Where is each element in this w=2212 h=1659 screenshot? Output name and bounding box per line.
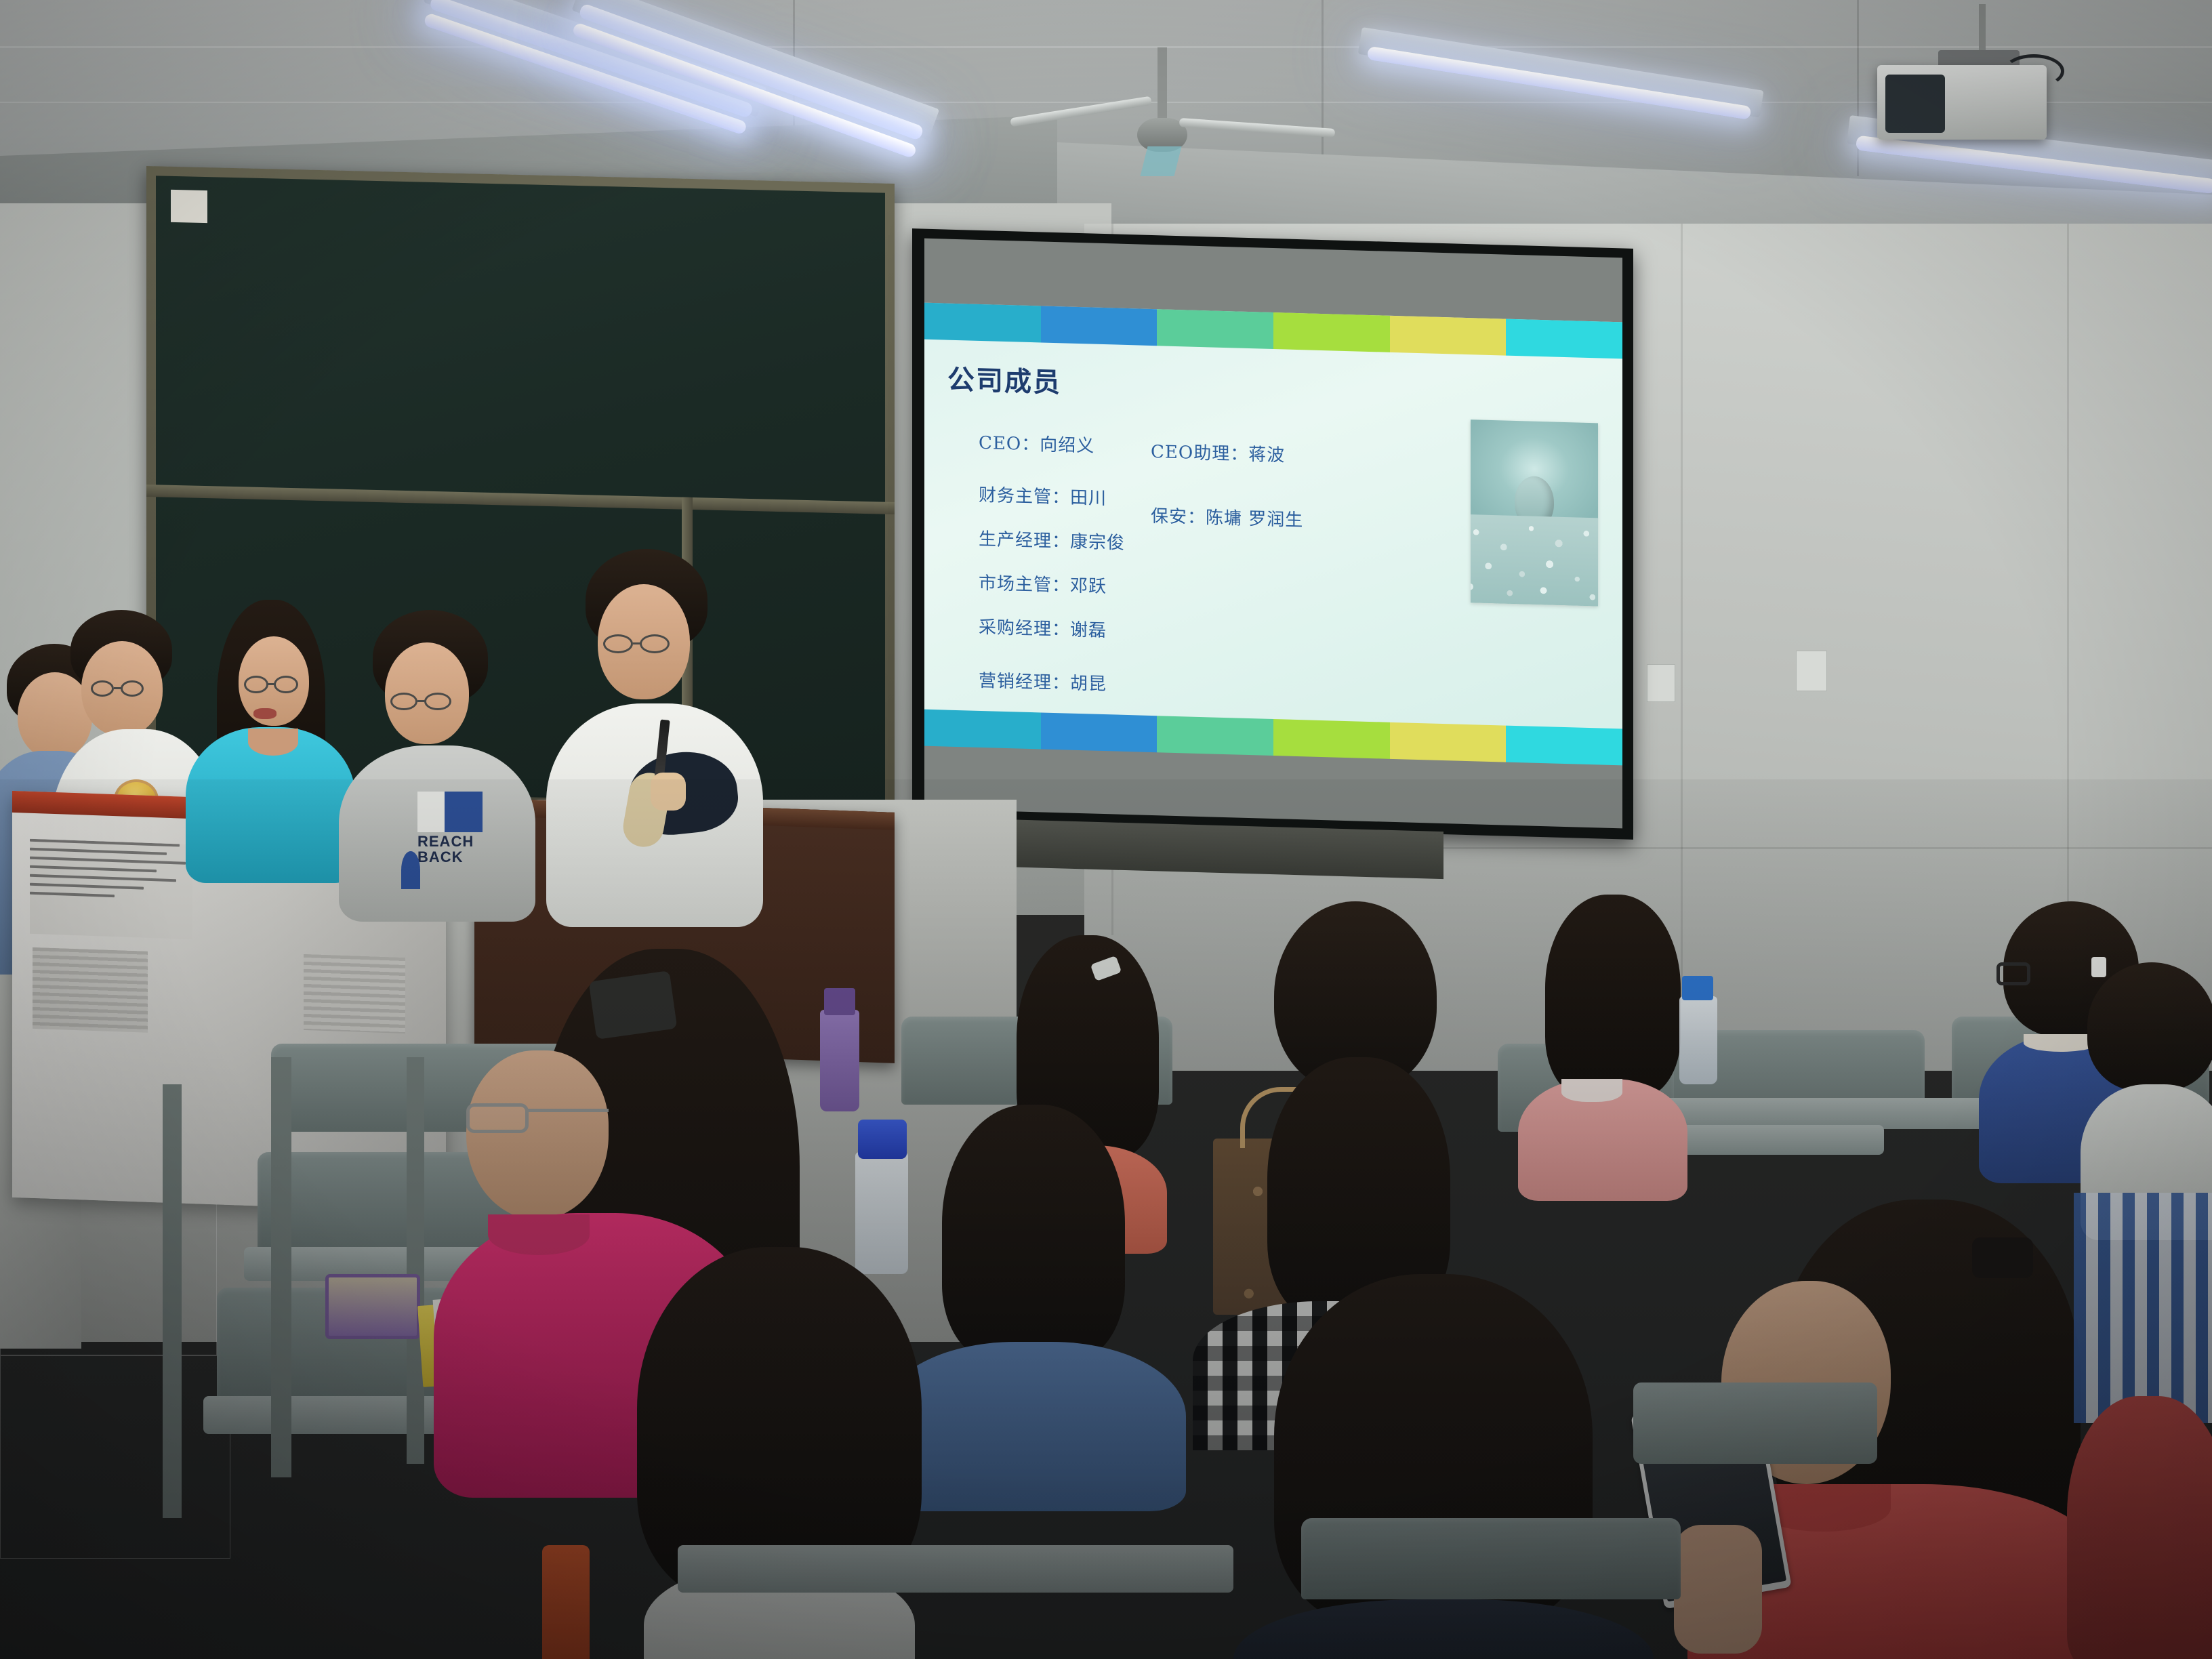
bottle-cap-blue[interactable] xyxy=(1682,976,1713,1000)
projection-screen: 公司成员 CEO：向绍义 财务主管：田川 生产经理：康宗俊 市场主管：邓跃 采购… xyxy=(912,228,1633,840)
checkered-blue-shirt xyxy=(2074,1193,2212,1423)
band-color-0 xyxy=(924,710,1041,750)
roster-item-ceo-assistant: CEO助理：蒋波 xyxy=(1151,438,1374,469)
photo-coins xyxy=(1471,514,1598,606)
hand-holding-phone xyxy=(1674,1525,1762,1654)
podium-vent xyxy=(33,947,148,1033)
pencil-case[interactable] xyxy=(325,1274,420,1339)
band-color-5 xyxy=(1506,319,1622,359)
roster-item-purchasing: 采购经理：谢磊 xyxy=(979,613,1151,643)
audience-denim xyxy=(888,1105,1179,1484)
desk-surface[interactable] xyxy=(678,1545,1233,1593)
glasses-side xyxy=(466,1103,529,1133)
roster-item-production: 生产经理：康宗俊 xyxy=(979,525,1151,555)
slide-photo-man-in-coins xyxy=(1471,419,1598,606)
band-color-1 xyxy=(1041,306,1158,346)
podium-label-panel xyxy=(30,839,192,939)
roster-column-right: CEO助理：蒋波 保安：陈墉 罗润生 xyxy=(1151,434,1374,722)
glasses-temple xyxy=(527,1109,609,1112)
presenter-hand xyxy=(651,773,686,811)
wall-outlet[interactable] xyxy=(1796,651,1827,691)
roster-item-ceo: CEO：向绍义 xyxy=(979,429,1151,459)
band-color-3 xyxy=(1273,719,1390,759)
audience-front-head xyxy=(637,1247,922,1659)
audience-right-edge xyxy=(2074,1193,2212,1659)
tshirt-logo-block xyxy=(417,792,445,832)
band-color-3 xyxy=(1273,312,1390,352)
ceiling-fan xyxy=(1057,75,1342,197)
tshirt-logo-block xyxy=(441,792,483,832)
tshirt-text: REACH BACK xyxy=(417,834,474,865)
band-color-1 xyxy=(1041,712,1158,752)
presenter-male-gray: REACH BACK xyxy=(352,610,535,922)
slide: 公司成员 CEO：向绍义 财务主管：田川 生产经理：康宗俊 市场主管：邓跃 采购… xyxy=(924,303,1622,756)
band-color-4 xyxy=(1390,316,1507,356)
band-color-5 xyxy=(1506,726,1622,766)
wall-seam xyxy=(1681,224,1683,1003)
slide-body: 公司成员 CEO：向绍义 财务主管：田川 生产经理：康宗俊 市场主管：邓跃 采购… xyxy=(924,340,1622,729)
hair-clip xyxy=(589,970,678,1040)
ceiling-projector xyxy=(1870,20,2094,169)
bottle-clear[interactable] xyxy=(1679,996,1717,1084)
seat-frame xyxy=(271,1057,291,1477)
band-color-2 xyxy=(1157,309,1273,349)
collar xyxy=(1561,1079,1622,1102)
wall-seam xyxy=(2067,224,2069,901)
roster-item-finance: 财务主管：田川 xyxy=(979,481,1151,511)
projection-screen-surface: 公司成员 CEO：向绍义 财务主管：田川 生产经理：康宗俊 市场主管：邓跃 采购… xyxy=(924,239,1622,829)
band-color-0 xyxy=(924,303,1041,343)
audience-center-foreground xyxy=(1233,1274,1654,1659)
blackboard-notice-card xyxy=(171,190,207,223)
classroom-scene: 公司成员 CEO：向绍义 财务主管：田川 生产经理：康宗俊 市场主管：邓跃 采购… xyxy=(0,0,2212,1659)
audience-white-top xyxy=(2087,962,2212,1206)
band-color-2 xyxy=(1157,716,1273,756)
seat-back[interactable] xyxy=(1633,1382,1877,1464)
wall-outlet[interactable] xyxy=(1647,664,1675,702)
seat-frame xyxy=(407,1057,424,1464)
seat-back[interactable] xyxy=(1301,1518,1681,1599)
floor-tile xyxy=(0,1355,230,1559)
audience-pink-lace xyxy=(1525,895,1694,1139)
tshirt-ribbon xyxy=(401,851,420,889)
presenter-male-white xyxy=(556,549,759,928)
roster-item-sales: 营销经理：胡昆 xyxy=(979,667,1151,697)
roster-column-left: CEO：向绍义 财务主管：田川 生产经理：康宗俊 市场主管：邓跃 采购经理：谢磊… xyxy=(947,428,1151,716)
seat-frame xyxy=(163,1084,182,1518)
hair-tie xyxy=(1972,1237,2033,1278)
podium-vent xyxy=(304,954,405,1033)
collar xyxy=(488,1214,590,1255)
roster-item-marketing: 市场主管：邓跃 xyxy=(979,569,1151,599)
slide-title: 公司成员 xyxy=(947,358,1599,415)
backpack-strap xyxy=(542,1545,590,1659)
band-color-4 xyxy=(1390,722,1507,762)
roster-item-security: 保安：陈墉 罗润生 xyxy=(1151,502,1374,533)
glasses-side xyxy=(1996,962,2030,985)
